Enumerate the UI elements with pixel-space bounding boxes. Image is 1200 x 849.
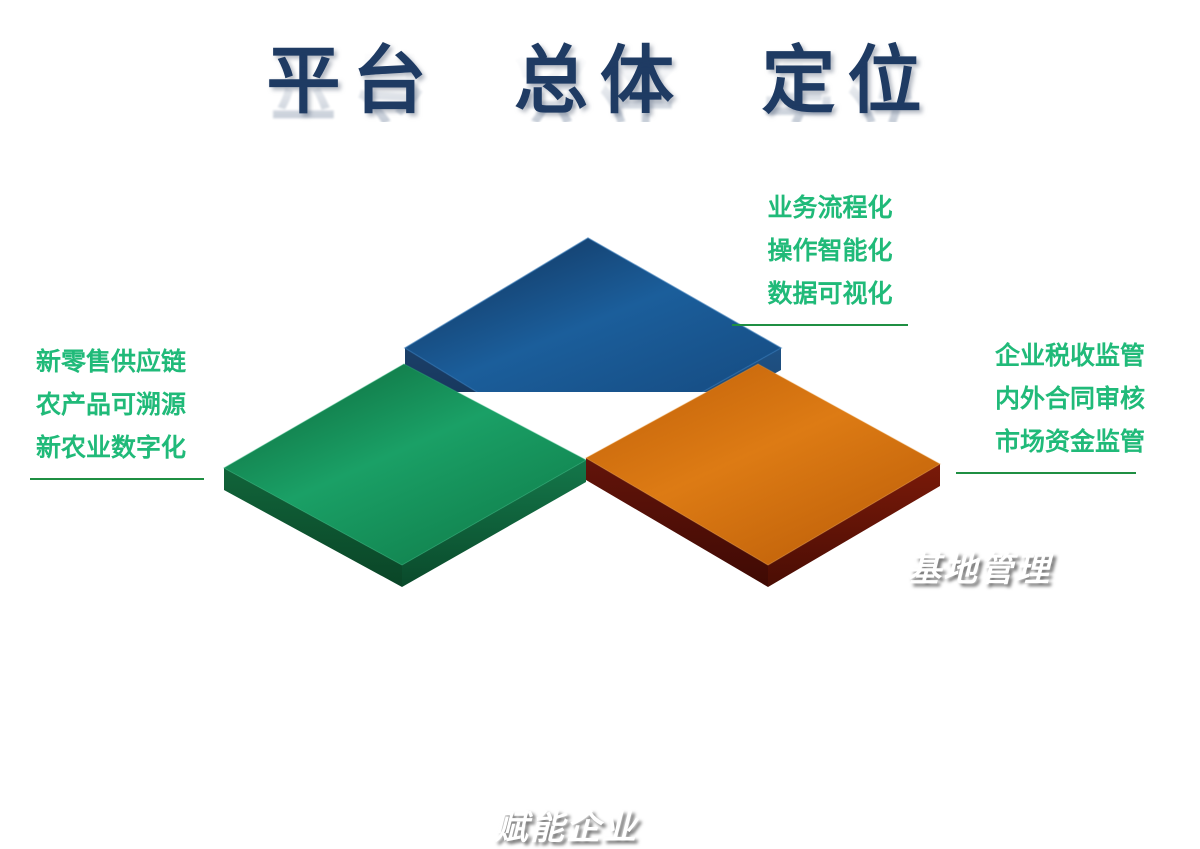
- slide-canvas: 平台 总体 定位 平台 总体 定位: [0, 0, 1200, 671]
- annotation-right-line-2: 内外合同审核: [978, 377, 1162, 420]
- annotation-top-right-line-3: 数据可视化: [740, 272, 920, 315]
- annotation-left-rule: [30, 478, 204, 480]
- annotation-top-right: 业务流程化 操作智能化 数据可视化: [740, 186, 920, 326]
- annotation-left-line-2: 农产品可溯源: [16, 383, 206, 426]
- block-empower-enterprise-label: 赋能企业: [494, 800, 638, 849]
- page-title-reflection: 平台 总体 定位: [0, 48, 1200, 122]
- page-title: 平台 总体 定位 平台 总体 定位: [0, 44, 1200, 196]
- block-chain-management[interactable]: 强链管理: [578, 360, 968, 600]
- annotation-top-right-rule: [732, 324, 908, 326]
- annotation-right-rule: [956, 472, 1136, 474]
- page-title-text: 平台 总体 定位: [0, 44, 1200, 118]
- annotation-top-right-line-2: 操作智能化: [740, 229, 920, 272]
- annotation-left-line-3: 新农业数字化: [16, 426, 206, 469]
- annotation-top-right-line-1: 业务流程化: [740, 186, 920, 229]
- annotation-left-line-1: 新零售供应链: [16, 340, 206, 383]
- annotation-left: 新零售供应链 农产品可溯源 新农业数字化: [16, 340, 206, 480]
- annotation-right: 企业税收监管 内外合同审核 市场资金监管: [978, 334, 1162, 474]
- annotation-right-line-1: 企业税收监管: [978, 334, 1162, 377]
- annotation-right-line-3: 市场资金监管: [978, 420, 1162, 463]
- block-empower-enterprise[interactable]: 赋能企业: [218, 360, 608, 600]
